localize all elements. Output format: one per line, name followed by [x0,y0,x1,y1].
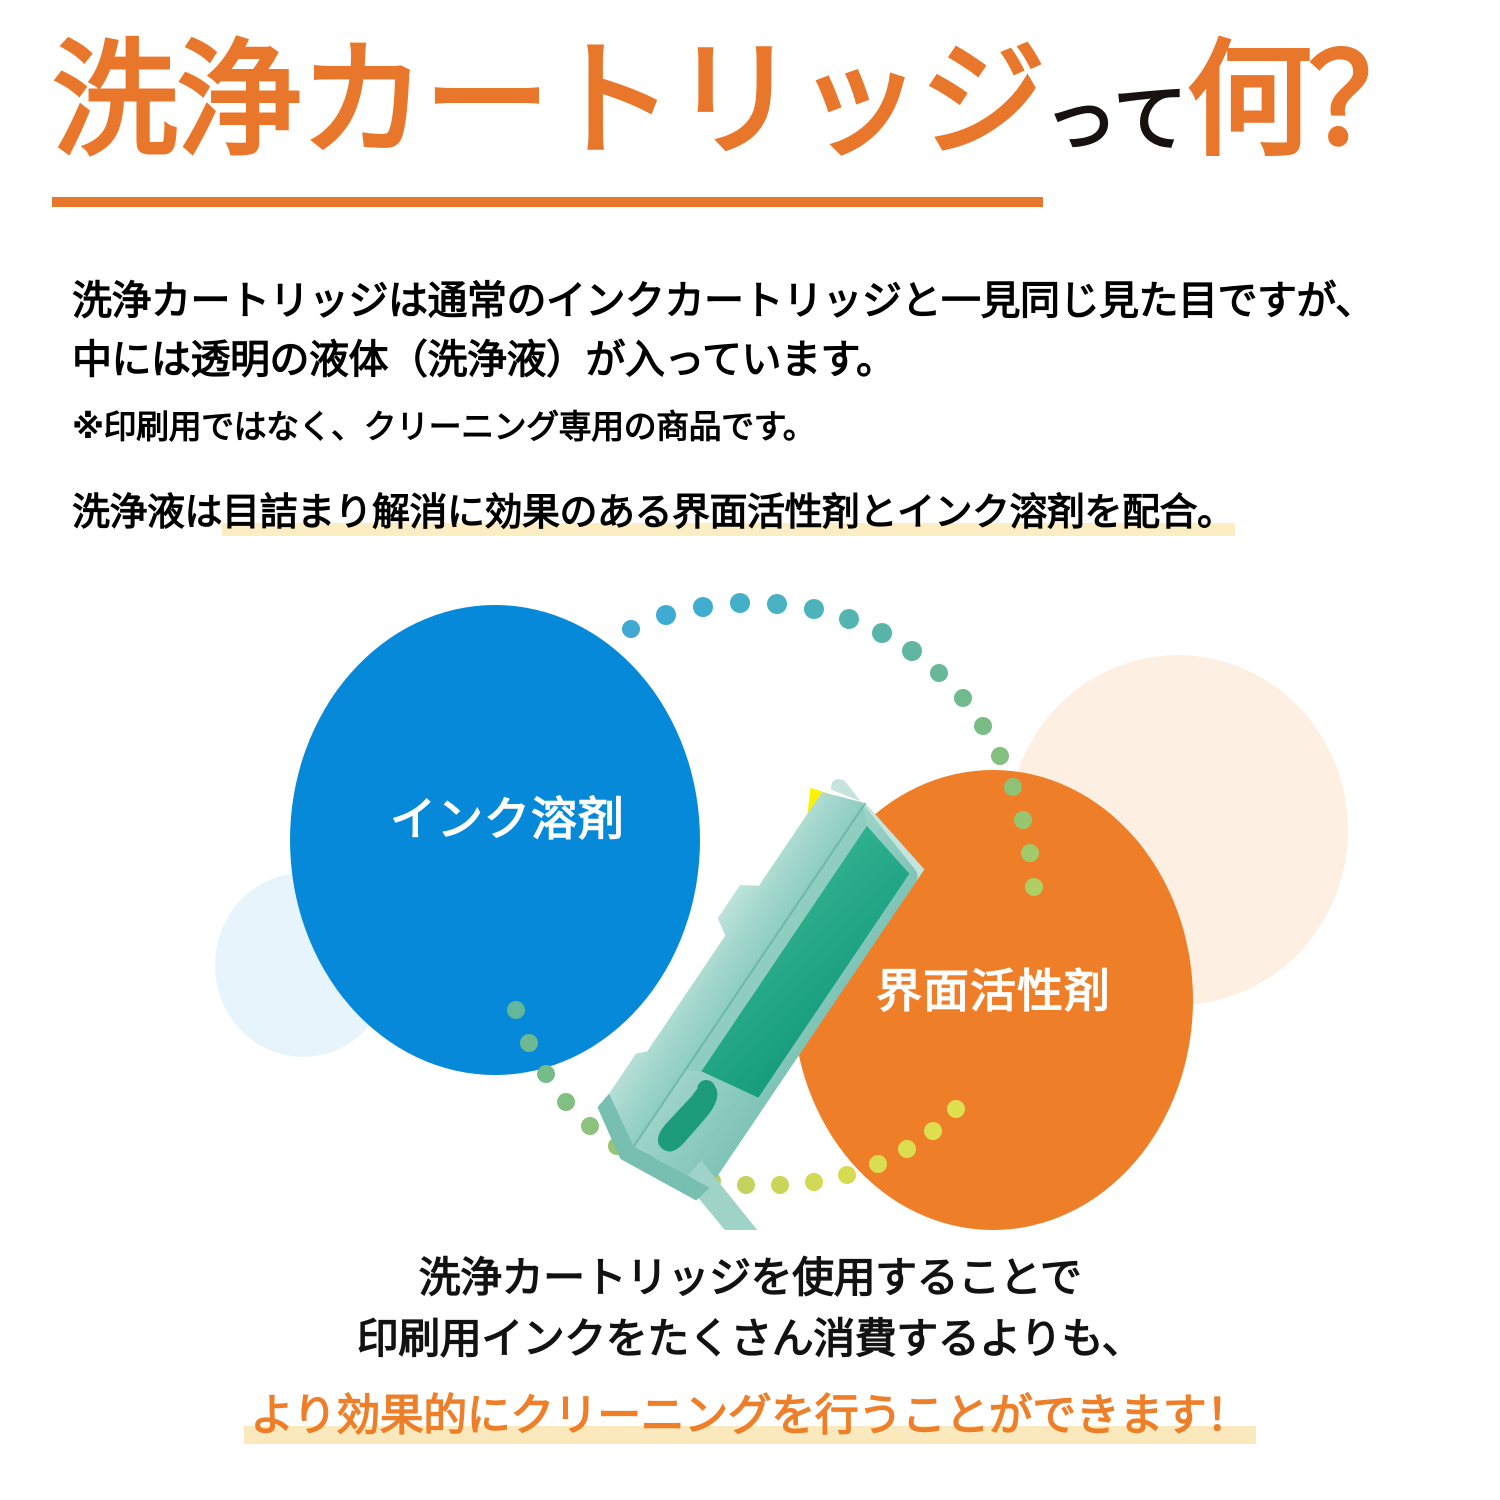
highlight-marked-text: 目詰まり解消に効果のある界面活性剤とインク溶剤を配合。 [222,492,1235,536]
title-question-text: 何？ [1186,30,1430,171]
orange-circle-label: 界面活性剤 [876,955,1111,1021]
note-paragraph: ※印刷用ではなく、クリーニング専用の商品です。 [72,404,1452,450]
title-underline-bar [52,197,1043,207]
title-main-text: 洗浄カートリッジ [52,30,1044,171]
page-title: 洗浄カートリッジって何？ [52,38,1430,164]
highlight-prefix-text: 洗浄液は [72,492,222,534]
concept-diagram: インク溶剤 界面活性剤 [0,565,1500,1230]
footer-line-2: 印刷用インクをたくさん消費するよりも、 [0,1309,1500,1370]
footer-line-1: 洗浄カートリッジを使用することで [0,1248,1500,1309]
footer-line-3: より効果的にクリーニングを行うことができます！ [0,1384,1500,1448]
blue-circle-label: インク溶剤 [390,783,625,849]
highlight-paragraph: 洗浄液は目詰まり解消に効果のある界面活性剤とインク溶剤を配合。 [72,487,1452,540]
lead-line-1: 洗浄カートリッジは通常のインクカートリッジと一見同じ見た目ですが、 [72,279,1375,323]
body-copy-block: 洗浄カートリッジは通常のインクカートリッジと一見同じ見た目ですが、 中には透明の… [72,272,1452,540]
footer-copy-block: 洗浄カートリッジを使用することで 印刷用インクをたくさん消費するよりも、 より効… [0,1248,1500,1448]
title-block: 洗浄カートリッジって何？ [52,38,1452,218]
lead-line-2: 中には透明の液体（洗浄液）が入っています。 [72,338,896,382]
title-small-text: って [1044,77,1186,160]
infographic-page: 洗浄カートリッジって何？ 洗浄カートリッジは通常のインクカートリッジと一見同じ見… [0,0,1500,1500]
lead-paragraph: 洗浄カートリッジは通常のインクカートリッジと一見同じ見た目ですが、 中には透明の… [72,272,1452,390]
footer-emphasis-text: より効果的にクリーニングを行うことができます！ [244,1391,1256,1444]
